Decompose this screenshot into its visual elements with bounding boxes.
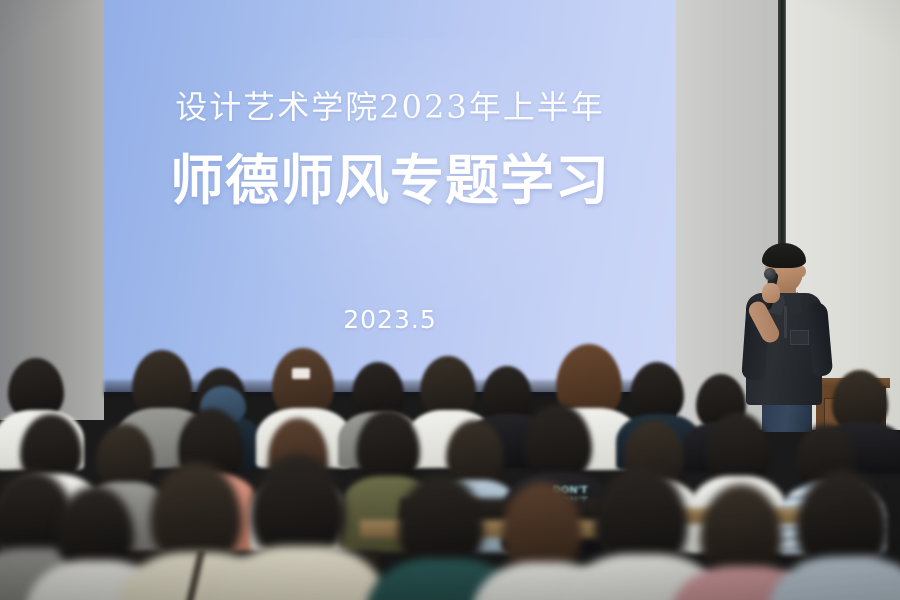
attendee-head [150, 462, 242, 566]
hair-clip [292, 368, 310, 379]
attendee-body [216, 546, 388, 600]
slide-subtitle: 设计艺术学院2023年上半年 [104, 82, 676, 128]
attendee-body [768, 556, 900, 600]
projection-screen: 设计艺术学院2023年上半年 师德师风专题学习 2023.5 [104, 0, 676, 392]
audience-row-front [0, 440, 900, 600]
lecture-hall-photo: 设计艺术学院2023年上半年 师德师风专题学习 2023.5 [0, 0, 900, 600]
slide-date: 2023.5 [104, 305, 676, 334]
attendee-head [502, 482, 582, 572]
slide-title: 师德师风专题学习 [104, 136, 676, 215]
speaker-hand [762, 283, 780, 303]
microphone-head [764, 268, 776, 280]
attendee-head [700, 484, 782, 578]
speaker-shirt-placket [784, 306, 787, 338]
